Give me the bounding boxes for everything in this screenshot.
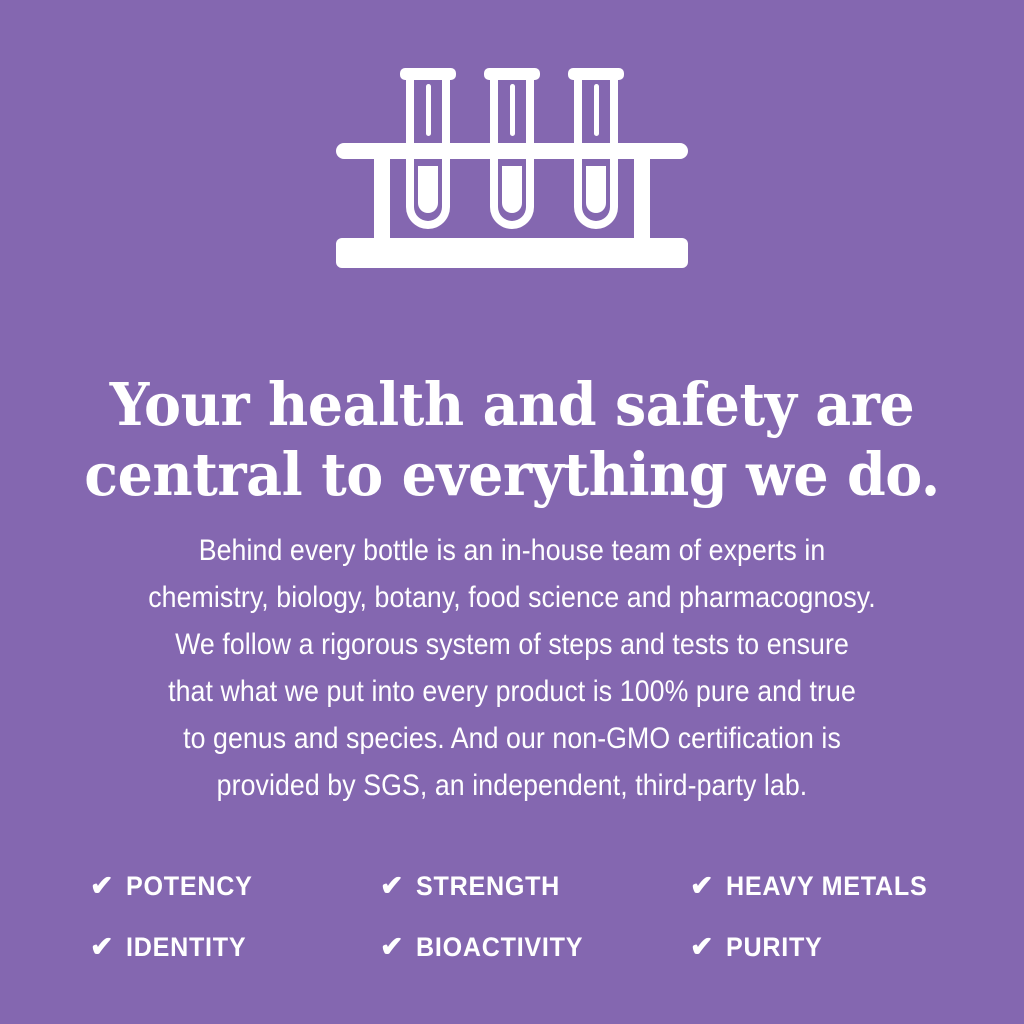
body-line-1: Behind every bottle is an in-house team … bbox=[56, 527, 967, 574]
checklist-item-heavy-metals: ✔ HEAVY METALS bbox=[690, 871, 970, 902]
check-icon: ✔ bbox=[380, 933, 403, 961]
checklist-item-label: STRENGTH bbox=[416, 871, 560, 902]
checklist-item-strength: ✔ STRENGTH bbox=[380, 871, 690, 902]
checklist-item-bioactivity: ✔ BIOACTIVITY bbox=[380, 932, 690, 963]
test-tube-rack-icon bbox=[332, 62, 692, 272]
check-icon: ✔ bbox=[380, 872, 403, 900]
body-line-5: to genus and species. And our non-GMO ce… bbox=[56, 715, 967, 762]
checklist-item-label: IDENTITY bbox=[126, 932, 246, 963]
checklist-item-label: PURITY bbox=[726, 932, 823, 963]
body-line-2: chemistry, biology, botany, food science… bbox=[56, 574, 967, 621]
check-icon: ✔ bbox=[690, 872, 713, 900]
checklist-item-identity: ✔ IDENTITY bbox=[90, 932, 380, 963]
promo-card: Your health and safety are central to ev… bbox=[0, 0, 1024, 1024]
check-icon: ✔ bbox=[690, 933, 713, 961]
checklist-item-potency: ✔ POTENCY bbox=[90, 871, 380, 902]
checklist-item-label: HEAVY METALS bbox=[726, 871, 927, 902]
page-title: Your health and safety are central to ev… bbox=[31, 370, 994, 510]
check-icon: ✔ bbox=[90, 933, 113, 961]
checklist-item-label: BIOACTIVITY bbox=[416, 932, 583, 963]
test-checklist: ✔ POTENCY ✔ STRENGTH ✔ HEAVY METALS ✔ ID… bbox=[90, 856, 970, 978]
page-title-line-1: Your health and safety are bbox=[31, 370, 994, 440]
body-line-4: that what we put into every product is 1… bbox=[56, 668, 967, 715]
check-icon: ✔ bbox=[90, 872, 113, 900]
body-line-3: We follow a rigorous system of steps and… bbox=[56, 621, 967, 668]
checklist-item-label: POTENCY bbox=[126, 871, 253, 902]
checklist-item-purity: ✔ PURITY bbox=[690, 932, 970, 963]
body-paragraph: Behind every bottle is an in-house team … bbox=[56, 527, 967, 809]
page-title-line-2: central to everything we do. bbox=[31, 440, 994, 510]
body-line-6: provided by SGS, an independent, third-p… bbox=[56, 762, 967, 809]
